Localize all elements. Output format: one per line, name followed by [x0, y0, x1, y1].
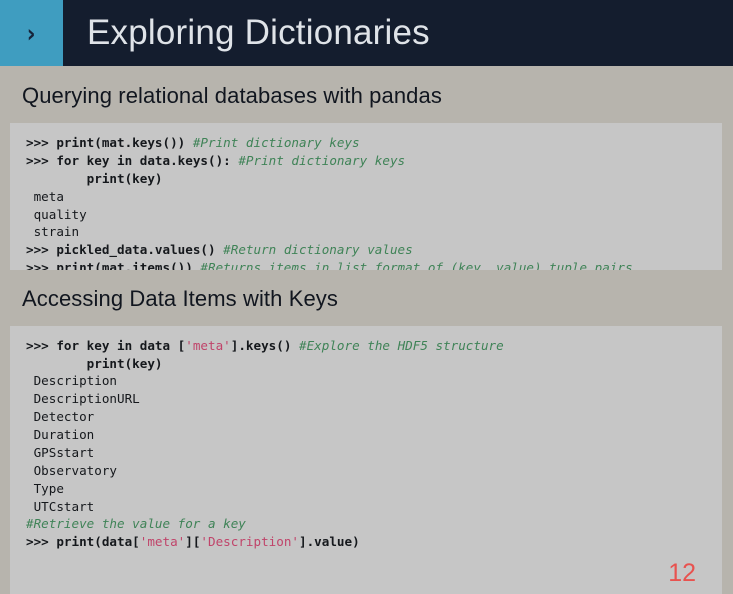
- code-token-code: print(mat.items()): [56, 260, 200, 270]
- code-token-out: Type: [26, 481, 64, 496]
- code-token-prompt: >>>: [26, 534, 56, 549]
- chevron-glyph: ›: [27, 21, 36, 46]
- code-token-code: print(mat.keys()): [56, 135, 192, 150]
- code-token-out: Observatory: [26, 463, 117, 478]
- section-heading-querying: Querying relational databases with panda…: [0, 66, 733, 123]
- page-title: Exploring Dictionaries: [63, 0, 733, 66]
- code-token-comment: #Return dictionary values: [223, 242, 413, 257]
- code-token-out: Description: [26, 373, 117, 388]
- code-line: >>> for key in data ['meta'].keys() #Exp…: [26, 337, 708, 355]
- code-token-comment: #Retrieve the value for a key: [26, 516, 246, 531]
- code-line: DescriptionURL: [26, 390, 708, 408]
- code-token-comment: #Print dictionary keys: [193, 135, 360, 150]
- code-token-code: print(key): [26, 356, 163, 371]
- code-block-querying: >>> print(mat.keys()) #Print dictionary …: [10, 123, 722, 270]
- slide-title-bar: › Exploring Dictionaries: [0, 0, 733, 66]
- code-line: print(key): [26, 170, 708, 188]
- code-token-comment: #Returns items in list format of (key, v…: [200, 260, 632, 270]
- code-line: Detector: [26, 408, 708, 426]
- page-number: 12: [668, 561, 696, 586]
- code-token-prompt: >>>: [26, 242, 56, 257]
- code-token-out: Detector: [26, 409, 94, 424]
- code-line: GPSstart: [26, 444, 708, 462]
- code-line: >>> print(mat.keys()) #Print dictionary …: [26, 134, 708, 152]
- code-line: #Retrieve the value for a key: [26, 515, 708, 533]
- code-line: UTCstart: [26, 498, 708, 516]
- code-token-code: print(data[: [56, 534, 139, 549]
- code-token-code: ].keys(): [231, 338, 299, 353]
- code-token-str: 'Description': [200, 534, 299, 549]
- slide-root: › Exploring Dictionaries Querying relati…: [0, 0, 733, 594]
- code-line: Type: [26, 480, 708, 498]
- code-token-code: for key in data [: [56, 338, 185, 353]
- code-token-out: GPSstart: [26, 445, 94, 460]
- code-line: >>> pickled_data.values() #Return dictio…: [26, 241, 708, 259]
- code-block-accessing: >>> for key in data ['meta'].keys() #Exp…: [10, 326, 722, 594]
- section-heading-accessing: Accessing Data Items with Keys: [0, 270, 733, 326]
- code-token-comment: #Print dictionary keys: [238, 153, 405, 168]
- chevron-right-icon: ›: [0, 0, 63, 66]
- code-token-prompt: >>>: [26, 260, 56, 270]
- code-token-code: ][: [185, 534, 200, 549]
- code-line: Observatory: [26, 462, 708, 480]
- code-line: strain: [26, 223, 708, 241]
- code-line: >>> print(mat.items()) #Returns items in…: [26, 259, 708, 270]
- code-token-code: print(key): [26, 171, 163, 186]
- code-token-code: for key in data.keys():: [56, 153, 238, 168]
- code-line: meta: [26, 188, 708, 206]
- code-token-out: Duration: [26, 427, 94, 442]
- code-token-prompt: >>>: [26, 153, 56, 168]
- code-token-str: 'meta': [185, 338, 231, 353]
- code-token-out: DescriptionURL: [26, 391, 140, 406]
- code-line: Description: [26, 372, 708, 390]
- code-token-code: pickled_data.values(): [56, 242, 223, 257]
- code-token-str: 'meta': [140, 534, 186, 549]
- code-line: >>> for key in data.keys(): #Print dicti…: [26, 152, 708, 170]
- code-token-out: quality: [26, 207, 87, 222]
- code-line: print(key): [26, 355, 708, 373]
- code-token-prompt: >>>: [26, 338, 56, 353]
- code-token-out: strain: [26, 224, 79, 239]
- code-line: >>> print(data['meta']['Description'].va…: [26, 533, 708, 551]
- code-token-out: meta: [26, 189, 64, 204]
- code-token-prompt: >>>: [26, 135, 56, 150]
- code-token-comment: #Explore the HDF5 structure: [299, 338, 504, 353]
- code-line: Duration: [26, 426, 708, 444]
- code-token-code: ].value): [299, 534, 360, 549]
- code-line: quality: [26, 206, 708, 224]
- code-token-out: UTCstart: [26, 499, 94, 514]
